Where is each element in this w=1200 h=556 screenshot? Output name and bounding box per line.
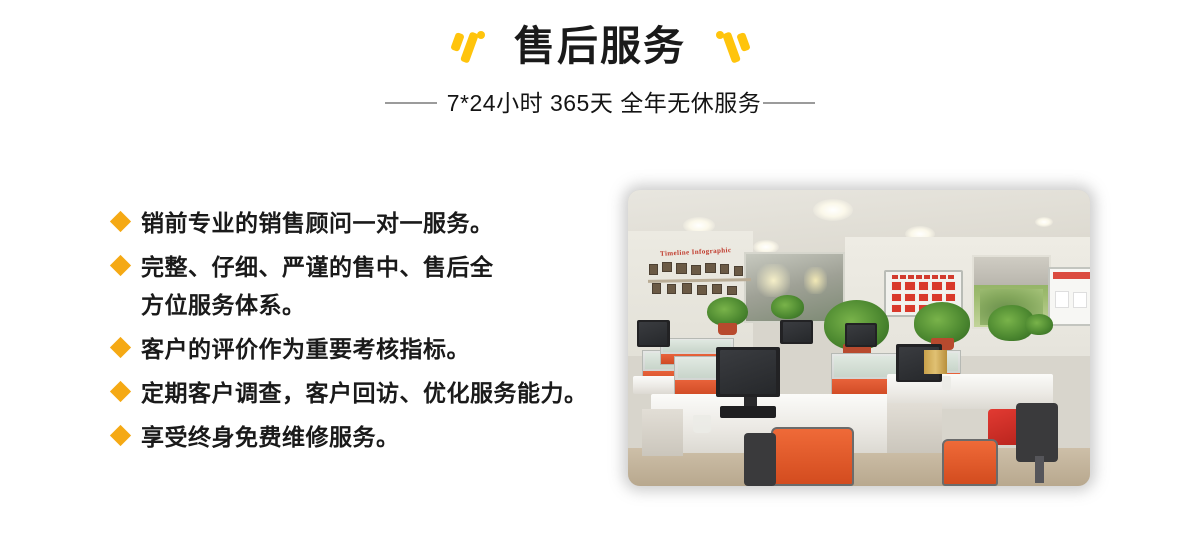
slash-dot — [477, 31, 485, 39]
list-item: 客户的评价作为重要考核指标。 — [113, 331, 633, 367]
office-photo-canvas: Timeline Infographic — [628, 190, 1090, 486]
header: 售后服务 7*24小时 365天 全年无休服务 — [0, 0, 1200, 140]
diamond-bullet-icon — [110, 381, 131, 402]
page-subtitle: 7*24小时 365天 全年无休服务 — [447, 88, 761, 118]
office-chair — [771, 427, 854, 486]
slash-bar-short — [450, 32, 465, 52]
office-chair-mesh — [744, 433, 776, 486]
after-sales-service-banner: 售后服务 7*24小时 365天 全年无休服务 销前专业的销售顾问一对一服务。 … — [0, 0, 1200, 556]
office-chair — [942, 439, 997, 486]
chair-post — [1035, 456, 1044, 483]
service-feature-list: 销前专业的销售顾问一对一服务。 完整、仔细、严谨的售中、售后全 方位服务体系。 … — [113, 205, 633, 463]
list-item-label: 定期客户调查，客户回访、优化服务能力。 — [141, 375, 588, 411]
glass-cup — [693, 415, 711, 433]
yellow-slash-right-icon — [708, 25, 752, 67]
subtitle-rule-right — [763, 102, 815, 104]
subtitle-row: 7*24小时 365天 全年无休服务 — [0, 88, 1200, 118]
subtitle-rule-left — [385, 102, 437, 104]
list-item-label: 销前专业的销售顾问一对一服务。 — [141, 205, 494, 241]
list-item-label-continuation: 方位服务体系。 — [113, 287, 633, 323]
desk-pedestal — [642, 409, 684, 456]
window-blind — [974, 257, 1049, 285]
page-title: 售后服务 — [514, 18, 686, 74]
office-plant — [771, 295, 803, 319]
list-item-label: 客户的评价作为重要考核指标。 — [141, 331, 470, 367]
slash-bar-short — [736, 32, 751, 52]
title-row: 售后服务 — [0, 18, 1200, 74]
keyboard — [720, 406, 775, 418]
photo-inner-light — [757, 264, 789, 297]
list-item: 销前专业的销售顾问一对一服务。 — [113, 205, 633, 241]
yellow-slash-left-icon — [448, 25, 492, 67]
photo-inner-light — [804, 267, 827, 294]
diamond-bullet-icon — [110, 211, 131, 232]
list-item: 完整、仔细、严谨的售中、售后全 — [113, 249, 633, 285]
office-plant — [1025, 314, 1053, 335]
office-plant — [707, 297, 749, 327]
wall-certificate-frames — [646, 261, 752, 297]
desk-pedestal — [887, 403, 942, 453]
diamond-bullet-icon — [110, 255, 131, 276]
computer-monitor — [845, 323, 877, 347]
diamond-bullet-icon — [110, 425, 131, 446]
plant-pot — [718, 323, 736, 335]
office-photo: Timeline Infographic — [628, 190, 1090, 486]
office-chair-mesh — [1016, 403, 1058, 462]
ceiling-light — [1035, 217, 1053, 227]
list-item: 定期客户调查，客户回访、优化服务能力。 — [113, 375, 633, 411]
computer-monitor — [637, 320, 669, 347]
list-item-label: 完整、仔细、严谨的售中、售后全 — [141, 249, 494, 285]
monitor-stand — [744, 397, 758, 406]
list-item: 享受终身免费维修服务。 — [113, 419, 633, 455]
list-item-label: 享受终身免费维修服务。 — [141, 419, 400, 455]
ceiling-light — [813, 199, 853, 221]
wall-whiteboard — [1048, 267, 1090, 326]
desk-bottle — [942, 376, 951, 391]
diamond-bullet-icon — [110, 337, 131, 358]
desk-books — [924, 350, 947, 374]
computer-monitor — [716, 347, 781, 397]
computer-monitor — [780, 320, 812, 344]
